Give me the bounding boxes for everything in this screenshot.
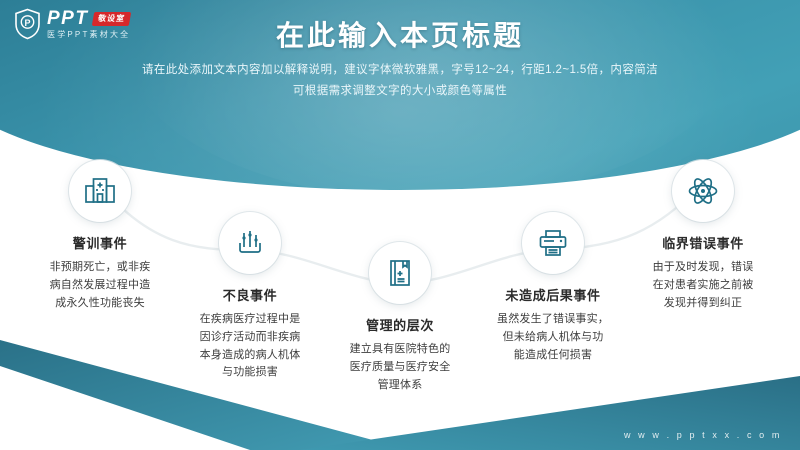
- desc-line: 发现并得到纠正: [608, 295, 798, 313]
- printer-icon: [522, 212, 584, 274]
- medical-book-icon: [369, 242, 431, 304]
- atom-icon: [672, 160, 734, 222]
- desc-line: 虽然发生了错误事实，: [458, 311, 648, 329]
- lab-chart-icon: [219, 212, 281, 274]
- hospital-building-icon: [69, 160, 131, 222]
- page-title: 在此输入本页标题: [0, 14, 800, 54]
- subtitle-line-2: 可根据需求调整文字的大小或颜色等属性: [90, 81, 710, 102]
- page-subtitle: 请在此处添加文本内容加以解释说明，建议字体微软雅黑，字号12~24，行距1.2~…: [90, 60, 710, 103]
- subtitle-line-1: 请在此处添加文本内容加以解释说明，建议字体微软雅黑，字号12~24，行距1.2~…: [90, 60, 710, 81]
- item-title: 临界错误事件: [608, 233, 798, 252]
- site-watermark: w w w . p p t x x . c o m: [624, 430, 782, 440]
- desc-line: 在对患者实施之前被: [608, 277, 798, 295]
- item-description: 由于及时发现，错误 在对患者实施之前被 发现并得到纠正: [608, 259, 798, 312]
- slide-canvas: P PPT 敬设室 医学PPT素材大全 在此输入本页标题 请在此处添加文本内容加…: [0, 0, 800, 450]
- list-item[interactable]: 临界错误事件 由于及时发现，错误 在对患者实施之前被 发现并得到纠正: [608, 160, 798, 312]
- desc-line: 由于及时发现，错误: [608, 259, 798, 277]
